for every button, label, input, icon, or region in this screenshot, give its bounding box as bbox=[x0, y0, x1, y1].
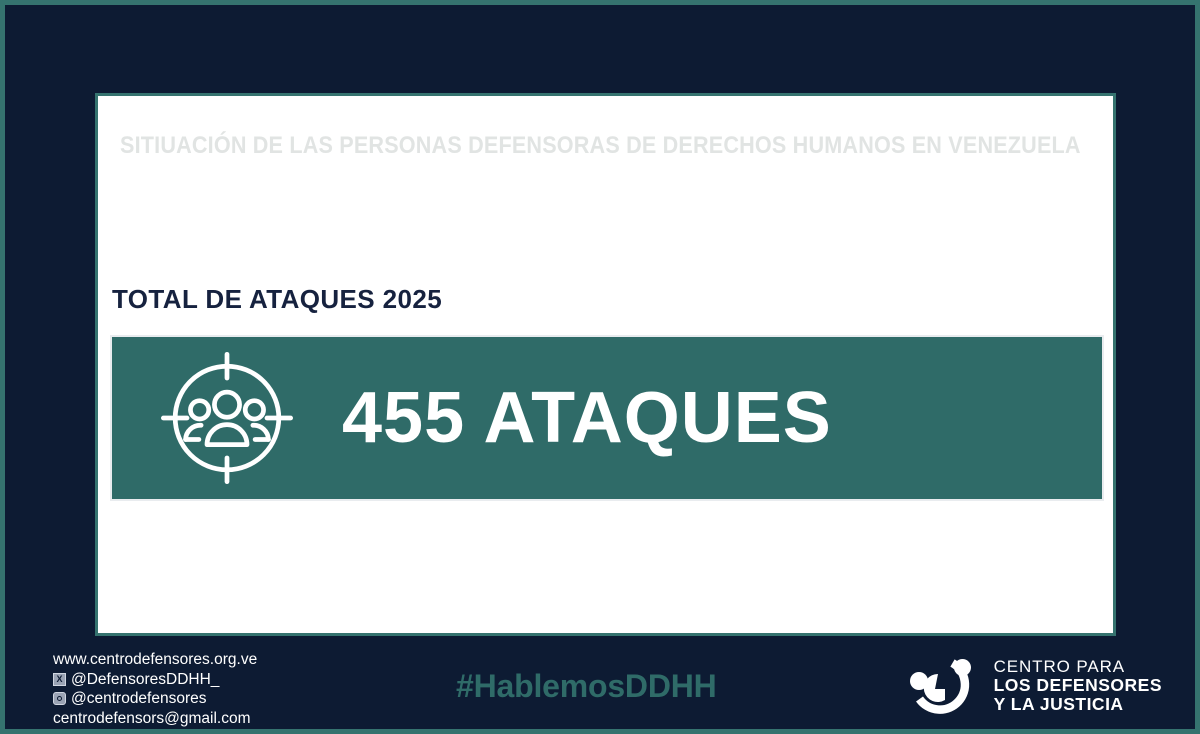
contact-block: www.centrodefensores.org.ve X @Defensore… bbox=[53, 650, 257, 728]
total-attacks-value: 455 ATAQUES bbox=[342, 382, 832, 454]
contact-twitter-line: X @DefensoresDDHH_ bbox=[53, 670, 257, 690]
brand-text: CENTRO PARA LOS DEFENSORES Y LA JUSTICIA bbox=[994, 658, 1162, 713]
instagram-icon bbox=[53, 692, 66, 705]
x-twitter-icon: X bbox=[53, 673, 66, 686]
total-attacks-banner: 455 ATAQUES bbox=[110, 335, 1104, 501]
centro-defensores-logo-icon bbox=[905, 655, 981, 717]
brand-line-1: CENTRO PARA bbox=[994, 658, 1162, 676]
brand-line-2: LOS DEFENSORES bbox=[994, 676, 1162, 695]
contact-email-line: centrodefensors@gmail.com bbox=[53, 709, 257, 729]
target-people-icon bbox=[112, 344, 342, 492]
poster-frame: SITIUACIÓN DE LAS PERSONAS DEFENSORAS DE… bbox=[0, 0, 1200, 734]
section-title: TOTAL DE ATAQUES 2025 bbox=[112, 284, 442, 315]
website-text[interactable]: www.centrodefensores.org.ve bbox=[53, 650, 257, 670]
twitter-handle[interactable]: @DefensoresDDHH_ bbox=[71, 670, 219, 690]
instagram-handle[interactable]: @centrodefensores bbox=[71, 689, 207, 709]
organization-logo: CENTRO PARA LOS DEFENSORES Y LA JUSTICIA bbox=[905, 655, 1162, 717]
content-card: SITIUACIÓN DE LAS PERSONAS DEFENSORAS DE… bbox=[95, 93, 1116, 636]
campaign-hashtag: #HablemosDDHH bbox=[456, 668, 717, 705]
brand-line-3: Y LA JUSTICIA bbox=[994, 695, 1162, 714]
email-text[interactable]: centrodefensors@gmail.com bbox=[53, 709, 251, 729]
contact-website-line: www.centrodefensores.org.ve bbox=[53, 650, 257, 670]
contact-instagram-line: @centrodefensores bbox=[53, 689, 257, 709]
page-title: SITIUACIÓN DE LAS PERSONAS DEFENSORAS DE… bbox=[120, 132, 998, 160]
